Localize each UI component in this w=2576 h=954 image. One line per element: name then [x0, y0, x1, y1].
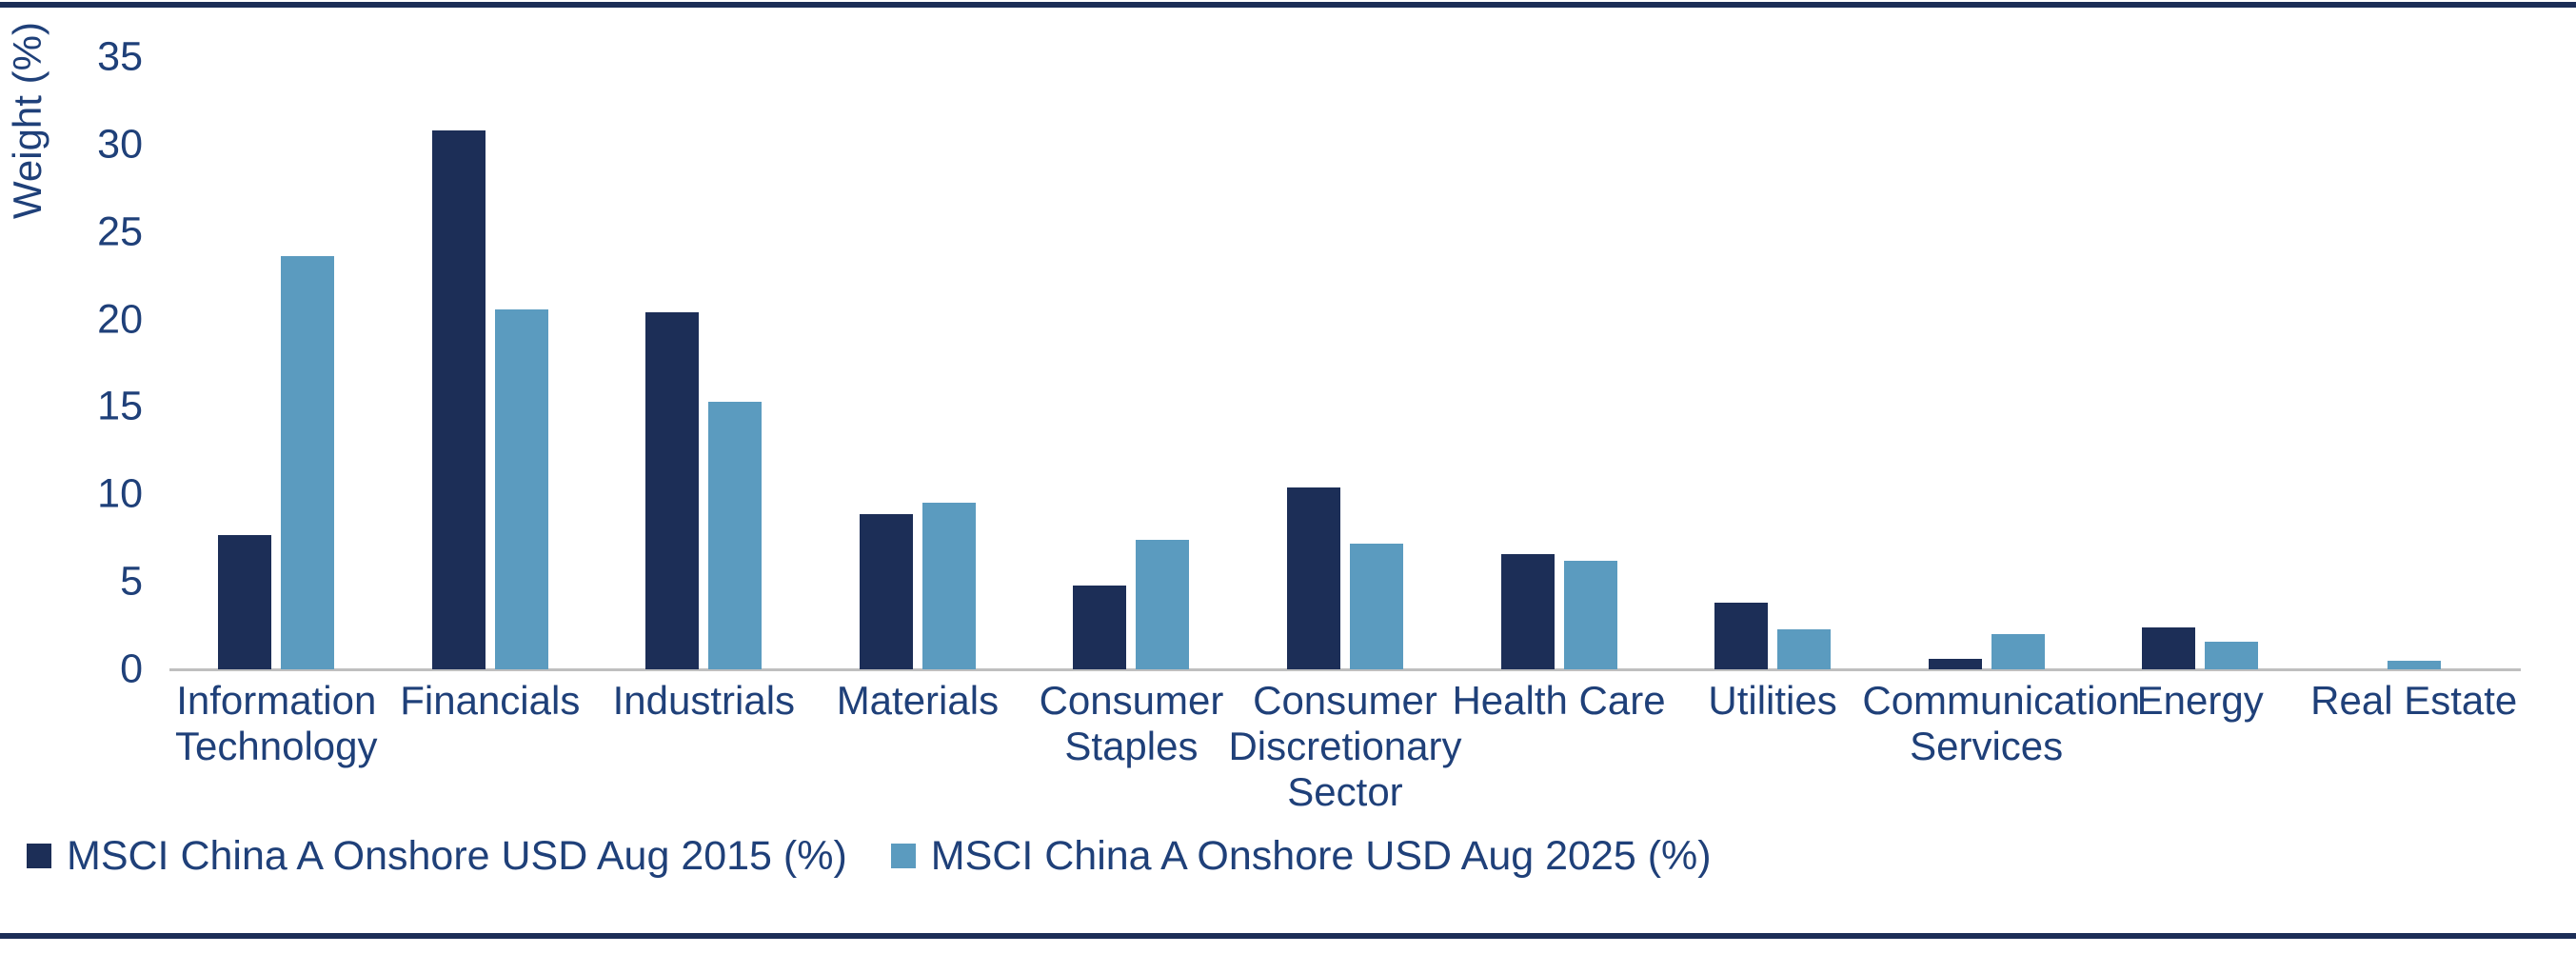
bar-0[interactable] [1714, 603, 1768, 669]
x-axis-label: Health Care [1435, 678, 1683, 724]
bar-group [2093, 57, 2308, 669]
bar-1[interactable] [2388, 661, 2441, 669]
bar-1[interactable] [1136, 540, 1189, 669]
x-axis-label: Real Estate [2289, 678, 2538, 724]
bar-group [2307, 57, 2521, 669]
y-tick-label: 0 [120, 649, 143, 690]
y-tick-label: 10 [97, 474, 143, 515]
bar-0[interactable] [860, 514, 913, 670]
bar-0[interactable] [218, 535, 271, 669]
bar-group [597, 57, 811, 669]
bar-1[interactable] [1350, 544, 1403, 669]
legend-item-0[interactable]: MSCI China A Onshore USD Aug 2015 (%) [27, 834, 847, 878]
bar-group [1879, 57, 2093, 669]
legend-swatch-icon [891, 844, 916, 868]
y-tick-label: 20 [97, 299, 143, 340]
bottom-divider-rule [0, 933, 2576, 939]
bar-0[interactable] [1073, 586, 1126, 669]
chart-legend: MSCI China A Onshore USD Aug 2015 (%)MSC… [27, 834, 1712, 878]
legend-label: MSCI China A Onshore USD Aug 2015 (%) [67, 834, 847, 878]
bar-1[interactable] [708, 402, 762, 669]
bar-group [1238, 57, 1453, 669]
bar-1[interactable] [1777, 629, 1831, 669]
x-axis-label: Consumer Staples [1007, 678, 1256, 769]
x-axis-label: Communication Services [1862, 678, 2110, 769]
bar-0[interactable] [432, 130, 485, 669]
bar-group [169, 57, 384, 669]
x-axis-label: Utilities [1649, 678, 1897, 724]
legend-item-1[interactable]: MSCI China A Onshore USD Aug 2025 (%) [891, 834, 1712, 878]
bar-1[interactable] [1991, 634, 2045, 669]
bar-group [1452, 57, 1666, 669]
bar-1[interactable] [495, 309, 548, 669]
x-axis-label: Energy [2076, 678, 2325, 724]
chart-figure: Weight (%) 05101520253035 Information Te… [0, 0, 2576, 954]
y-tick-label: 25 [97, 211, 143, 252]
bar-0[interactable] [645, 312, 699, 669]
y-tick-label: 35 [97, 37, 143, 78]
bar-0[interactable] [1929, 659, 1982, 669]
bar-group [1024, 57, 1238, 669]
x-axis-label: Industrials [580, 678, 828, 724]
bar-0[interactable] [1501, 554, 1555, 669]
legend-swatch-icon [27, 844, 51, 868]
y-tick-label: 5 [120, 562, 143, 603]
bar-1[interactable] [922, 503, 976, 669]
x-axis-label: Financials [367, 678, 615, 724]
bar-1[interactable] [2205, 642, 2258, 669]
x-axis-label: Materials [794, 678, 1042, 724]
bar-0[interactable] [2142, 627, 2195, 669]
top-divider-rule [0, 2, 2576, 8]
bar-1[interactable] [1564, 561, 1617, 669]
x-axis-label: Information Technology [152, 678, 401, 769]
plot-area: 05101520253035 [169, 57, 2521, 669]
y-tick-label: 15 [97, 387, 143, 427]
bar-0[interactable] [1287, 487, 1340, 669]
bar-group [1666, 57, 1880, 669]
bar-1[interactable] [281, 256, 334, 669]
bar-group [811, 57, 1025, 669]
y-axis-title: Weight (%) [6, 162, 50, 219]
y-tick-label: 30 [97, 124, 143, 165]
bar-group [384, 57, 598, 669]
legend-label: MSCI China A Onshore USD Aug 2025 (%) [931, 834, 1712, 878]
x-axis-label: Consumer Discretionary Sector [1221, 678, 1470, 815]
